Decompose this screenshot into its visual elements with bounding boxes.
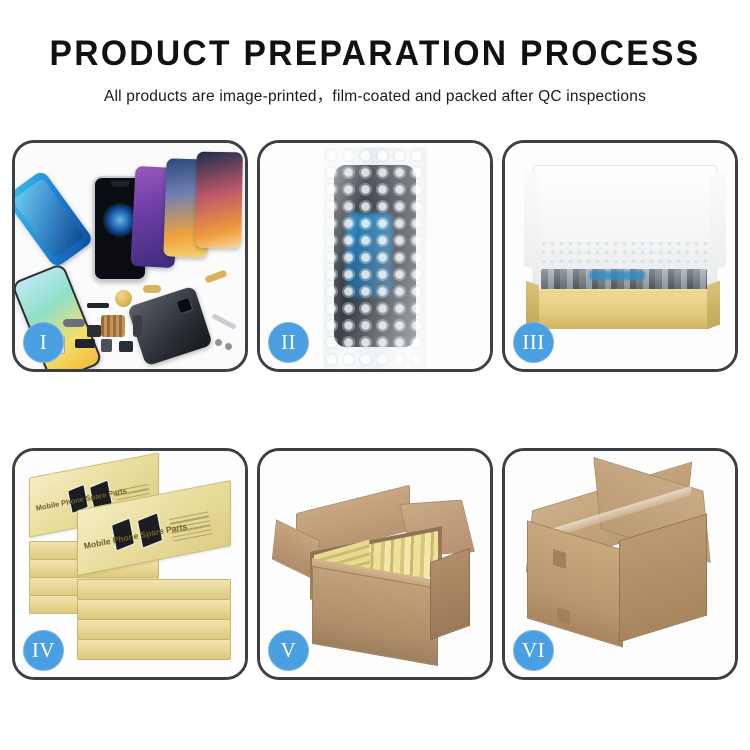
- carton-right-face: [430, 548, 470, 641]
- screw-part-b: [225, 343, 232, 350]
- logic-board-part: [101, 315, 125, 337]
- gold-flex-strip-part: [204, 269, 227, 283]
- step-badge-6: VI: [513, 630, 554, 671]
- screw-part-a: [215, 339, 222, 346]
- step-panel-3[interactable]: III: [502, 140, 738, 372]
- vibrator-motor-part: [101, 339, 112, 352]
- page-header: PRODUCT PREPARATION PROCESS All products…: [0, 0, 750, 106]
- gold-flex-cable-part: [143, 285, 161, 293]
- step-badge-3: III: [513, 322, 554, 363]
- speaker-part: [87, 303, 109, 308]
- camera-module-part: [87, 325, 101, 337]
- step-panel-5[interactable]: V: [257, 448, 493, 680]
- step-badge-5: V: [268, 630, 309, 671]
- sim-tray-part: [119, 341, 133, 352]
- step-panel-6[interactable]: VI: [502, 448, 738, 680]
- page-title: PRODUCT PREPARATION PROCESS: [15, 36, 735, 73]
- tweezers-tool: [211, 313, 236, 330]
- front-box-layer-4: [77, 639, 231, 660]
- step-panel-2[interactable]: II: [257, 140, 493, 372]
- page-subtitle: All products are image-printed，film-coat…: [0, 84, 750, 106]
- front-box-layer-1: [77, 579, 231, 600]
- copper-coil-part: [115, 290, 132, 307]
- step-panel-1[interactable]: I: [12, 140, 248, 372]
- gradient-screen-phone: [195, 152, 243, 249]
- step-panel-4[interactable]: Mobile Phone Spare Parts: [12, 448, 248, 680]
- step-badge-4: IV: [23, 630, 64, 671]
- process-step-grid: I II: [12, 140, 738, 680]
- mailer-box-front: [535, 293, 711, 329]
- front-box-layer-3: [77, 619, 231, 640]
- step-badge-2: II: [268, 322, 309, 363]
- antenna-flex-part: [63, 319, 85, 327]
- connector-strip-part: [133, 315, 142, 337]
- front-box-layer-2: [77, 599, 231, 620]
- blue-screen-assembly: [15, 169, 94, 268]
- step-badge-1: I: [23, 322, 64, 363]
- battery-connector-part: [75, 339, 95, 348]
- product-preparation-process-page: PRODUCT PREPARATION PROCESS All products…: [0, 0, 750, 750]
- plastic-sheen-overlay: [323, 147, 427, 369]
